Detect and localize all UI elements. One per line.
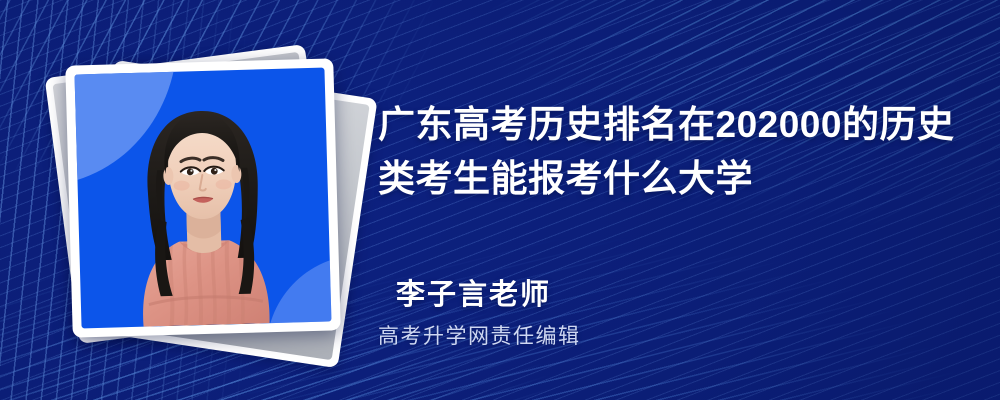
author-name: 李子言老师 [396, 271, 551, 313]
portrait-illustration [75, 68, 332, 329]
author-role: 高考升学网责任编辑 [378, 320, 581, 350]
author-portrait-photo [75, 68, 332, 329]
page-title-line-2: 类考生能报考什么大学 [378, 152, 978, 206]
page-title-line-1: 广东高考历史排名在202000的历史 [378, 98, 978, 152]
photo-card-front [65, 58, 340, 337]
article-cover-banner: 广东高考历史排名在202000的历史 类考生能报考什么大学 李子言老师 高考升学… [0, 0, 1000, 400]
photo-card-stack [55, 48, 355, 348]
page-title: 广东高考历史排名在202000的历史 类考生能报考什么大学 [378, 98, 978, 206]
banner-text-block: 广东高考历史排名在202000的历史 类考生能报考什么大学 李子言老师 高考升学… [378, 0, 978, 400]
